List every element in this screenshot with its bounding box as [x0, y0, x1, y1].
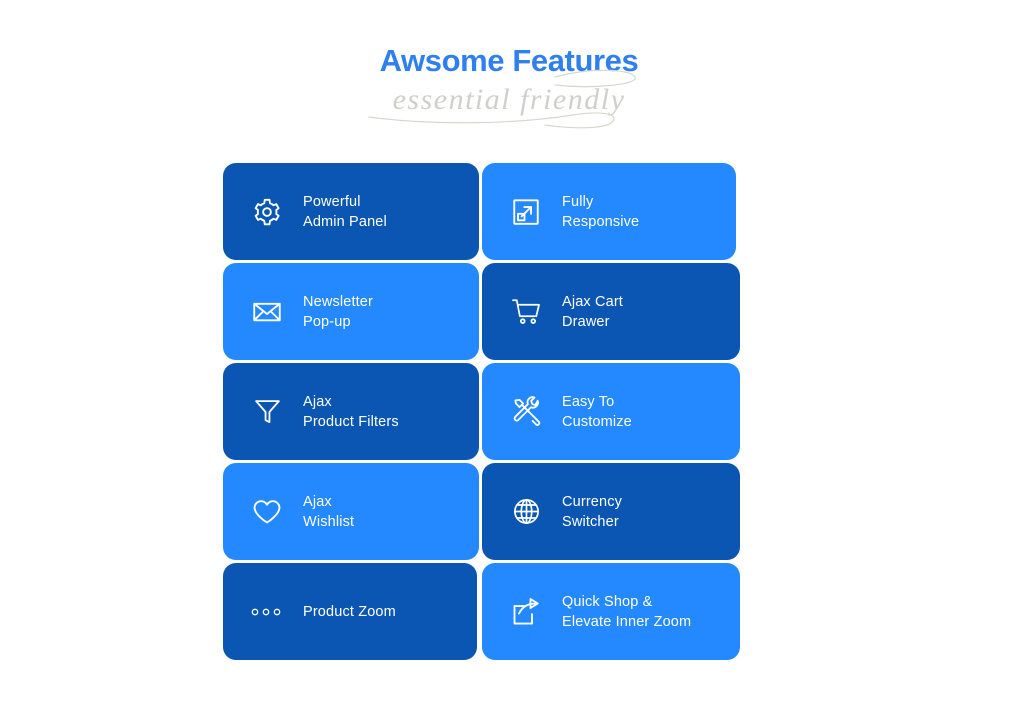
tools-icon: [506, 392, 546, 432]
expand-arrow-icon: [506, 192, 546, 232]
feature-card-fully-responsive[interactable]: Fully Responsive: [482, 163, 736, 260]
heart-icon: [247, 492, 287, 532]
feature-card-label: Currency Switcher: [562, 492, 622, 532]
funnel-filter-icon: [247, 392, 287, 432]
feature-card-product-zoom[interactable]: Product Zoom: [223, 563, 477, 660]
page-subtitle: essential friendly: [0, 75, 1018, 123]
features-page: Awsome Features essential friendly Power…: [0, 0, 1018, 719]
feature-card-label: Ajax Cart Drawer: [562, 292, 623, 332]
share-export-icon: [506, 592, 546, 632]
shopping-cart-icon: [506, 292, 546, 332]
feature-card-label: Powerful Admin Panel: [303, 192, 387, 232]
feature-card-currency-switcher[interactable]: Currency Switcher: [482, 463, 740, 560]
page-header: Awsome Features essential friendly: [0, 44, 1018, 123]
feature-card-powerful-admin-panel[interactable]: Powerful Admin Panel: [223, 163, 479, 260]
feature-card-label: Product Zoom: [303, 602, 396, 622]
gear-icon: [247, 192, 287, 232]
subtitle-text: essential friendly: [393, 83, 626, 116]
three-dots-icon: [247, 592, 287, 632]
feature-card-label: Fully Responsive: [562, 192, 639, 232]
envelope-icon: [247, 292, 287, 332]
features-grid: Powerful Admin Panel Fully Responsive: [223, 163, 738, 660]
feature-card-label: Ajax Product Filters: [303, 392, 399, 432]
feature-card-ajax-cart-drawer[interactable]: Ajax Cart Drawer: [482, 263, 740, 360]
feature-card-newsletter-popup[interactable]: Newsletter Pop-up: [223, 263, 479, 360]
feature-card-label: Ajax Wishlist: [303, 492, 354, 532]
feature-card-ajax-wishlist[interactable]: Ajax Wishlist: [223, 463, 479, 560]
feature-card-easy-to-customize[interactable]: Easy To Customize: [482, 363, 740, 460]
feature-card-ajax-product-filters[interactable]: Ajax Product Filters: [223, 363, 479, 460]
script-subtitle-icon: essential friendly: [359, 63, 659, 135]
globe-icon: [506, 492, 546, 532]
feature-card-label: Quick Shop & Elevate Inner Zoom: [562, 592, 691, 632]
feature-card-label: Easy To Customize: [562, 392, 632, 432]
feature-card-quick-shop-elevate-inner-zoom[interactable]: Quick Shop & Elevate Inner Zoom: [482, 563, 740, 660]
feature-card-label: Newsletter Pop-up: [303, 292, 373, 332]
